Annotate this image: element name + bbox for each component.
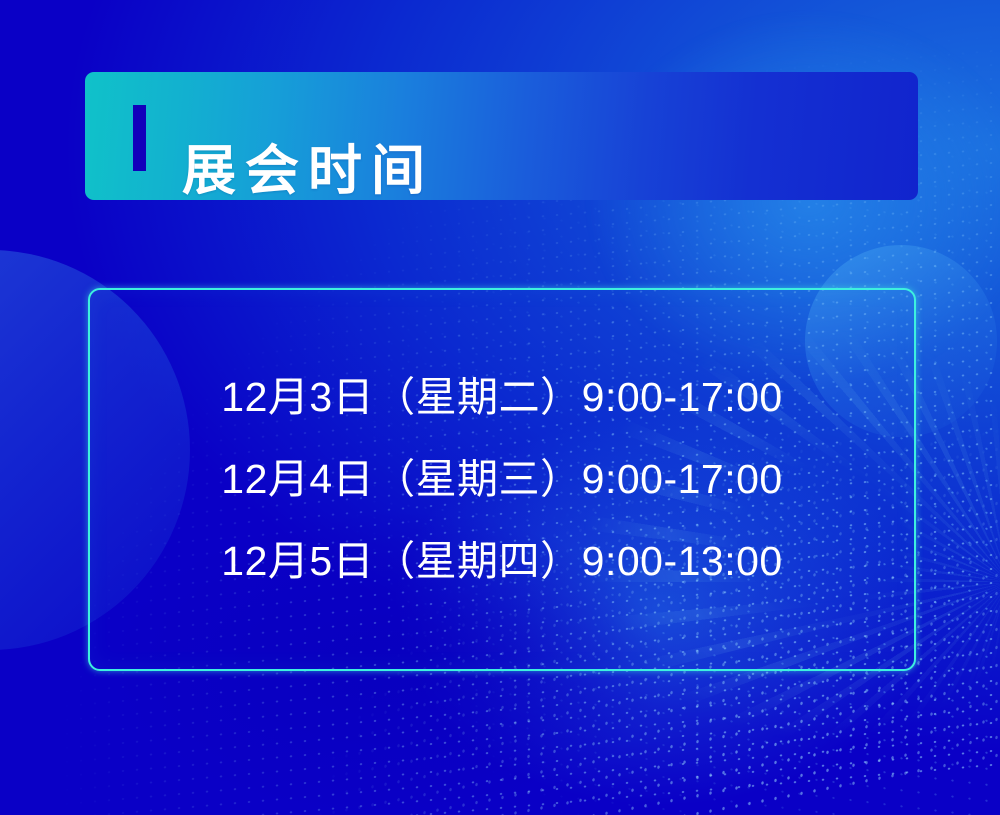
poster-canvas: 展会时间 12月3日（星期二）9:00-17:00 12月4日（星期三）9:00… [0,0,1000,815]
schedule-panel: 12月3日（星期二）9:00-17:00 12月4日（星期三）9:00-17:0… [88,288,916,671]
schedule-item-day-2: 12月4日（星期三）9:00-17:00 [90,459,914,500]
schedule-list: 12月3日（星期二）9:00-17:00 12月4日（星期三）9:00-17:0… [90,377,914,582]
header-accent-bar-icon [133,105,146,171]
schedule-item-day-3: 12月5日（星期四）9:00-13:00 [90,541,914,582]
schedule-item-day-1: 12月3日（星期二）9:00-17:00 [90,377,914,418]
section-header-banner: 展会时间 [85,72,918,200]
page-title: 展会时间 [182,144,434,198]
